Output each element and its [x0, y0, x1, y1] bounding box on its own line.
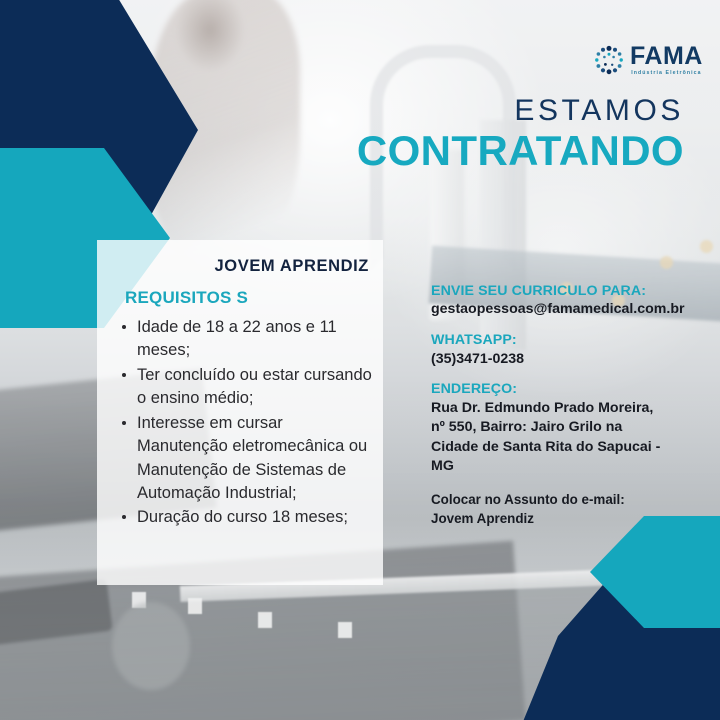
list-item: Interesse em cursar Manutenção eletromec…: [135, 412, 377, 506]
address-label: ENDEREÇO:: [431, 380, 703, 398]
list-item: Idade de 18 a 22 anos e 11 meses;: [135, 316, 377, 363]
fama-logo: FAMA Indústria Eletrônica: [594, 44, 703, 76]
spacer: [431, 477, 703, 490]
headline-block: ESTAMOS CONTRATANDO: [357, 96, 684, 173]
spacer: [431, 320, 703, 331]
requirements-card: JOVEM APRENDIZ REQUISITOS S Idade de 18 …: [97, 240, 383, 585]
list-item: Duração do curso 18 meses;: [135, 506, 377, 529]
logo-name: FAMA: [630, 44, 703, 69]
headline-line-2: CONTRATANDO: [357, 129, 684, 173]
requirements-list: Idade de 18 a 22 anos e 11 meses; Ter co…: [113, 316, 377, 531]
curriculum-email[interactable]: gestaopessoas@famamedical.com.br: [431, 300, 703, 320]
address-line-2: nº 550, Bairro: Jairo Grilo na: [431, 418, 703, 438]
address-line-3: Cidade de Santa Rita do Sapucai -: [431, 438, 703, 458]
whatsapp-label: WHATSAPP:: [431, 331, 703, 349]
whatsapp-number[interactable]: (35)3471-0238: [431, 350, 703, 370]
circular-dots-logo-icon: [594, 45, 624, 75]
list-item: Ter concluído ou estar cursando o ensino…: [135, 364, 377, 411]
logo-text: FAMA Indústria Eletrônica: [630, 44, 703, 76]
job-posting-poster: FAMA Indústria Eletrônica ESTAMOS CONTRA…: [0, 0, 720, 720]
spacer: [431, 369, 703, 380]
address-line-1: Rua Dr. Edmundo Prado Moreira,: [431, 399, 703, 419]
position-title: JOVEM APRENDIZ: [215, 257, 369, 276]
requirements-title: REQUISITOS S: [125, 288, 248, 308]
curriculum-label: ENVIE SEU CURRICULO PARA:: [431, 282, 703, 300]
logo-subtitle: Indústria Eletrônica: [630, 71, 703, 76]
address-line-4: MG: [431, 457, 703, 477]
email-subject-note-line-2: Jovem Aprendiz: [431, 509, 703, 528]
contact-block: ENVIE SEU CURRICULO PARA: gestaopessoas@…: [431, 282, 703, 529]
email-subject-note-line-1: Colocar no Assunto do e-mail:: [431, 490, 703, 509]
headline-line-1: ESTAMOS: [357, 96, 684, 126]
